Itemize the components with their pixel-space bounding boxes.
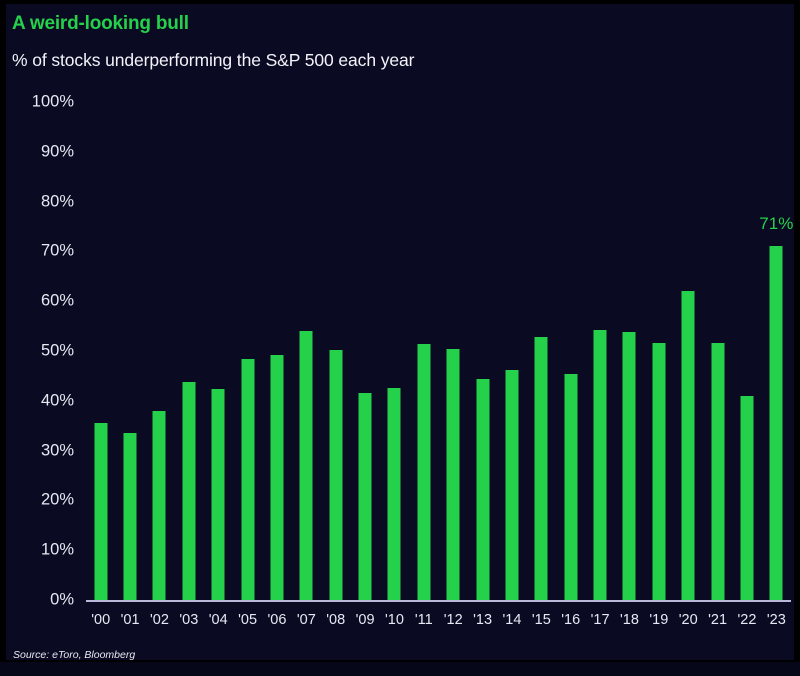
y-axis-tick-label: 90% bbox=[6, 142, 74, 161]
x-axis-tick-label: '17 bbox=[591, 612, 610, 628]
bar bbox=[564, 374, 577, 600]
bar bbox=[711, 343, 724, 600]
x-axis-tick-label: '07 bbox=[297, 612, 316, 628]
x-axis-tick-label: '03 bbox=[179, 612, 198, 628]
bar bbox=[623, 332, 636, 600]
x-axis-tick-label: '13 bbox=[473, 612, 492, 628]
bar-group: '20 bbox=[674, 4, 703, 660]
bar-group: '18 bbox=[615, 4, 644, 660]
bar bbox=[476, 379, 489, 600]
bar bbox=[770, 246, 783, 600]
bar-group: '05 bbox=[233, 4, 262, 660]
bar bbox=[359, 393, 372, 600]
x-axis-tick-label: '12 bbox=[444, 612, 463, 628]
bar-group: '08 bbox=[321, 4, 350, 660]
bar-group: '10 bbox=[380, 4, 409, 660]
y-axis-tick-label: 70% bbox=[6, 242, 74, 261]
x-axis-tick-label: '08 bbox=[326, 612, 345, 628]
bar bbox=[241, 359, 254, 600]
bar bbox=[682, 291, 695, 600]
bar bbox=[329, 350, 342, 600]
bar bbox=[594, 330, 607, 600]
bar-group: 71%'23 bbox=[762, 4, 791, 660]
y-axis-tick-label: 30% bbox=[6, 441, 74, 460]
chart-card: A weird-looking bull % of stocks underpe… bbox=[6, 4, 794, 660]
x-axis-tick-label: '18 bbox=[620, 612, 639, 628]
bar-group: '15 bbox=[527, 4, 556, 660]
x-axis-tick-label: '19 bbox=[649, 612, 668, 628]
bar-group: '09 bbox=[350, 4, 379, 660]
x-axis-tick-label: '05 bbox=[238, 612, 257, 628]
x-axis-tick-label: '22 bbox=[737, 612, 756, 628]
x-axis-tick-label: '11 bbox=[415, 612, 433, 628]
bar-group: '06 bbox=[262, 4, 291, 660]
bar bbox=[182, 382, 195, 600]
x-axis-tick-label: '09 bbox=[356, 612, 375, 628]
x-axis-tick-label: '20 bbox=[679, 612, 698, 628]
x-axis-tick-label: '00 bbox=[91, 612, 110, 628]
bar-series: '00'01'02'03'04'05'06'07'08'09'10'11'12'… bbox=[86, 4, 791, 660]
bar-group: '04 bbox=[204, 4, 233, 660]
bar bbox=[300, 331, 313, 600]
bar bbox=[652, 343, 665, 600]
y-axis-tick-label: 0% bbox=[6, 591, 74, 610]
x-axis-tick-label: '23 bbox=[767, 612, 786, 628]
y-axis-tick-label: 40% bbox=[6, 391, 74, 410]
x-axis-tick-label: '15 bbox=[532, 612, 551, 628]
bar-group: '21 bbox=[703, 4, 732, 660]
bar bbox=[212, 389, 225, 600]
bar bbox=[124, 433, 137, 600]
x-axis-tick-label: '01 bbox=[121, 612, 140, 628]
bar-group: '01 bbox=[115, 4, 144, 660]
bar-group: '14 bbox=[497, 4, 526, 660]
plot-area: 100%90%80%70%60%50%40%30%20%10%0% '00'01… bbox=[6, 4, 794, 660]
bar bbox=[153, 411, 166, 600]
bar-group: '13 bbox=[468, 4, 497, 660]
bar bbox=[535, 337, 548, 600]
y-axis-tick-label: 50% bbox=[6, 342, 74, 361]
y-axis-tick-label: 100% bbox=[6, 93, 74, 112]
bar bbox=[94, 423, 107, 600]
bar-group: '16 bbox=[556, 4, 585, 660]
bar bbox=[505, 370, 518, 600]
bar-value-label: 71% bbox=[759, 214, 793, 234]
bar-group: '19 bbox=[644, 4, 673, 660]
bar-group: '11 bbox=[409, 4, 438, 660]
y-axis-tick-label: 80% bbox=[6, 192, 74, 211]
x-axis-tick-label: '10 bbox=[385, 612, 404, 628]
y-axis-tick-label: 20% bbox=[6, 491, 74, 510]
bar-group: '02 bbox=[145, 4, 174, 660]
bar-group: '03 bbox=[174, 4, 203, 660]
bar-group: '22 bbox=[732, 4, 761, 660]
y-axis-tick-label: 60% bbox=[6, 292, 74, 311]
x-axis-tick-label: '04 bbox=[209, 612, 228, 628]
bar-group: '12 bbox=[439, 4, 468, 660]
x-axis-tick-label: '06 bbox=[267, 612, 286, 628]
bar bbox=[270, 355, 283, 601]
bar bbox=[417, 344, 430, 600]
bar-group: '00 bbox=[86, 4, 115, 660]
bar bbox=[388, 388, 401, 600]
chart-screenshot: A weird-looking bull % of stocks underpe… bbox=[0, 0, 800, 676]
bar-group: '17 bbox=[585, 4, 614, 660]
source-note: Source: eToro, Bloomberg bbox=[13, 649, 135, 660]
bar bbox=[740, 396, 753, 600]
x-axis-tick-label: '16 bbox=[561, 612, 580, 628]
x-axis-tick-label: '14 bbox=[502, 612, 521, 628]
x-axis-tick-label: '21 bbox=[708, 612, 727, 628]
bar bbox=[447, 349, 460, 600]
x-axis-tick-label: '02 bbox=[150, 612, 169, 628]
bottom-strip bbox=[0, 662, 800, 676]
bar-group: '07 bbox=[292, 4, 321, 660]
y-axis-tick-label: 10% bbox=[6, 541, 74, 560]
